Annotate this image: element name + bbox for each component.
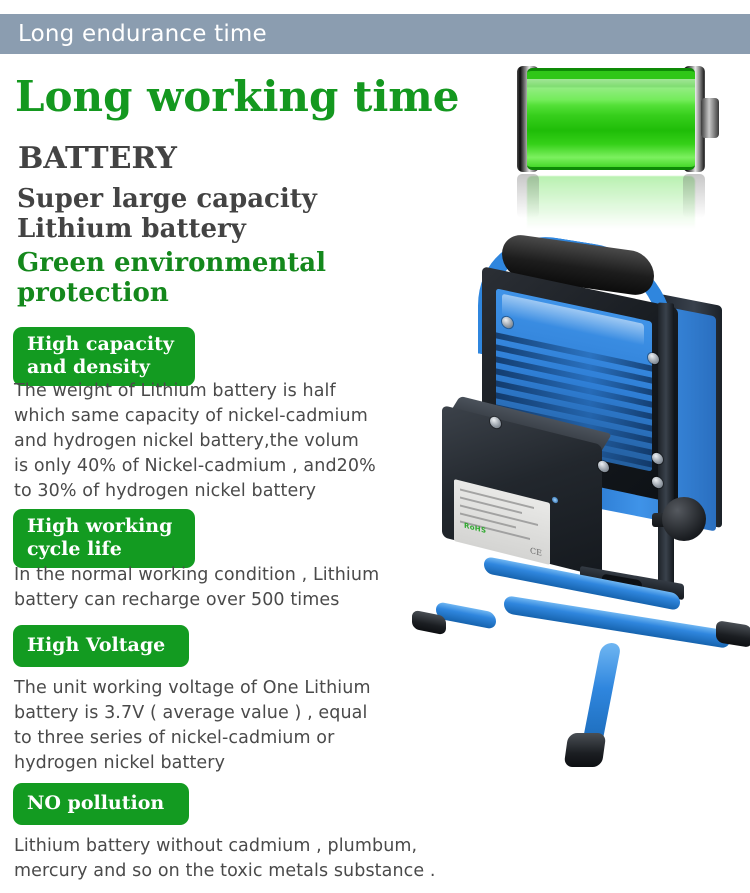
rohs-mark: RoHS	[464, 522, 486, 536]
feature-label-high-voltage: High Voltage	[13, 625, 189, 667]
product-feature-page: Long endurance time Long working time BA…	[0, 0, 750, 893]
battery-gloss	[527, 79, 695, 105]
banner-title: Long endurance time	[18, 20, 267, 48]
ce-mark: CE	[530, 546, 542, 558]
eco-heading: Green environmental protection	[17, 248, 477, 308]
battery-heading: BATTERY	[18, 142, 177, 176]
battery-reflection	[527, 176, 695, 238]
green-battery-icon	[505, 62, 730, 242]
portable-led-floodlight: RoHS CE	[430, 245, 750, 805]
feature-label-cycle-life: High working cycle life	[13, 509, 195, 568]
stand-foot-cap-front	[564, 733, 607, 767]
battery-reflection-cap-right	[683, 174, 705, 218]
floodlight-mount-bracket	[658, 303, 674, 604]
page-title: Long working time	[15, 74, 459, 120]
battery-subtitle: Super large capacity Lithium battery	[17, 184, 487, 244]
stand-tube-rear	[504, 595, 730, 649]
battery-charge-fill	[527, 68, 695, 170]
battery-terminal-nub	[701, 98, 719, 138]
feature-label-no-pollution: NO pollution	[13, 783, 189, 825]
feature-body-high-voltage: The unit working voltage of One Lithium …	[14, 676, 474, 776]
floodlight-tilt-knob	[662, 497, 706, 541]
feature-body-no-pollution: Lithium battery without cadmium , plumbu…	[14, 834, 614, 884]
feature-label-high-capacity: High capacity and density	[13, 327, 195, 386]
battery-reflection-cap-left	[517, 174, 539, 218]
feature-body-cycle-life: In the normal working condition , Lithiu…	[14, 563, 474, 613]
feature-body-high-capacity: The weight of Lithium battery is half wh…	[14, 379, 474, 504]
